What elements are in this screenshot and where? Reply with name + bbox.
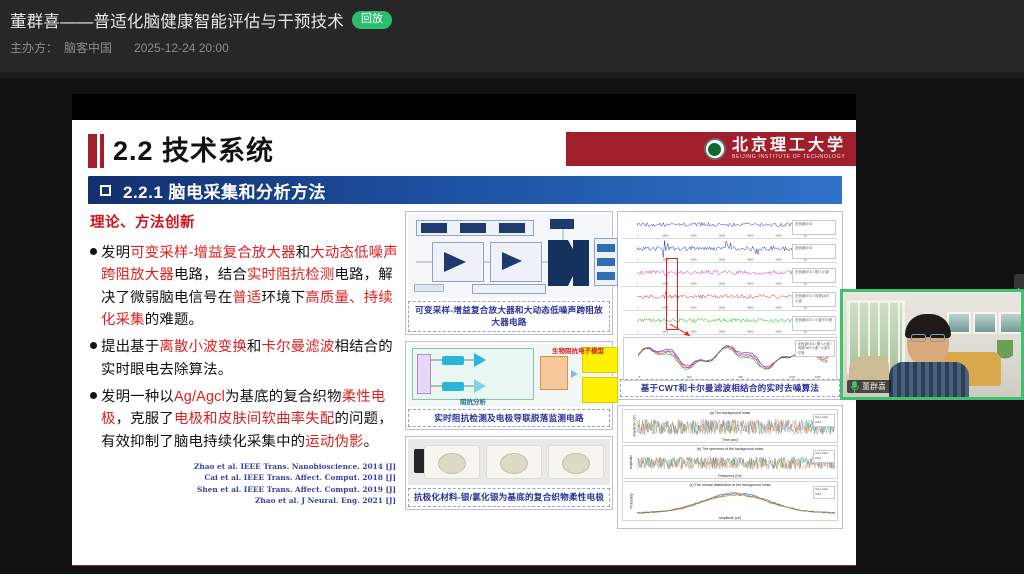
svg-text:800: 800	[687, 375, 692, 379]
impedance-circuit-figure: 生物阻抗电子模型 阻抗分析 实时阻抗检测及电极导联脱	[405, 341, 613, 430]
bullet-text-segment: 实时阻抗检测	[247, 267, 335, 283]
impedance-circuit-caption: 实时阻抗检测及电极导联脱落监测电路	[408, 409, 610, 427]
svg-text:4000: 4000	[747, 282, 754, 286]
reference-item: Zhao et al. J Neural. Eng. 2021 [J]	[90, 495, 396, 506]
bullet-text-segment: 为基底的复合织物	[225, 389, 342, 405]
subsection-title: 2.2.1 脑电采集和分析方法	[123, 178, 326, 203]
meta-row: 主办方： 脑客中国 2025-12-24 20:00	[10, 39, 1024, 56]
electrode-photo	[408, 439, 610, 485]
glasses-icon	[911, 334, 945, 342]
eeg-trace-row: 0100020003000400050006000含伪迹EEG	[623, 240, 837, 263]
bullet-item: 发明可变采样-增益复合放大器和大动态低噪声跨阻放大器电路，结合实时阻抗检测电路，…	[90, 242, 402, 331]
svg-text:5000: 5000	[776, 330, 783, 334]
noise-chart-svg	[637, 488, 835, 516]
noise-analysis-charts: (a) The background noiseAmplitude (uV)Ti…	[620, 408, 840, 526]
svg-text:0: 0	[637, 306, 638, 310]
svg-text:900: 900	[738, 375, 743, 379]
bullet-text-segment: 卡尔曼滤波	[262, 339, 335, 355]
eeg-trace-svg: 0100020003000400050006000	[637, 216, 807, 237]
bullet-text-segment: Ag/Agcl	[174, 389, 225, 405]
eeg-trace-svg: 0100020003000400050006000	[637, 264, 807, 285]
svg-text:2000: 2000	[691, 258, 698, 262]
bullet-text-segment: 电极和皮肤间软曲率失配	[174, 411, 335, 427]
noise-chart-title: (b) The spectrum of the background noise	[623, 447, 837, 451]
bullet-text-segment: 离散小波变换	[159, 339, 247, 355]
university-names: 北京理工大学 BEIJING INSTITUTE OF TECHNOLOGY	[732, 137, 846, 161]
noise-chart-xlabel: Frequency (Hz)	[623, 474, 837, 478]
accent-bar-thin	[100, 134, 104, 168]
noise-chart-title: (c) The normal distribution of the backg…	[623, 483, 837, 487]
square-bullet-icon	[100, 185, 111, 196]
svg-text:4000: 4000	[747, 234, 754, 238]
accent-bar-thick	[88, 134, 97, 168]
eeg-trace-row: 0100020003000400050006000无伪迹EEG / 配人小波	[623, 264, 837, 287]
bullet-item: 提出基于离散小波变换和卡尔曼滤波相结合的实时眼电去除算法。	[90, 336, 402, 381]
slide-section-header: 2.2 技术系统 北京理工大学 BEIJING INSTITUTE OF TEC…	[72, 128, 856, 174]
bullet-text-segment: 可变采样-增益复合放大器	[130, 245, 296, 261]
video-stage: 2.2 技术系统 北京理工大学 BEIJING INSTITUTE OF TEC…	[0, 78, 1024, 574]
eeg-detail-chart: 70080090010001050无伪迹EEG / 配人小波 / 传统DWT小波…	[623, 337, 837, 381]
svg-text:0: 0	[637, 258, 638, 262]
zoom-region-marker	[666, 258, 678, 330]
noise-chart-panel: (b) The spectrum of the background noise…	[622, 445, 838, 479]
noise-chart-ylabel: Amplitude (uV)	[633, 416, 637, 437]
noise-chart-legend: CH1 CH2 CH3	[813, 450, 835, 463]
svg-text:1000: 1000	[662, 234, 669, 238]
eeg-detail-legend: 无伪迹EEG / 配人小波 / 传统DWT小波 / 小波卡尔曼	[795, 340, 835, 357]
bullet-text-segment: 电路，结合	[174, 267, 247, 283]
amplifier-circuit-figure: 可变采样-增益复合放大器和大动态低噪声跨阻放大器电路	[405, 211, 613, 335]
page-title: 董群喜——普适化脑健康智能评估与干预技术	[10, 8, 344, 32]
slide-top-band	[72, 94, 856, 120]
svg-text:1000: 1000	[789, 375, 796, 379]
participant-name: 董群喜	[862, 381, 886, 392]
svg-text:4000: 4000	[747, 306, 754, 310]
noise-chart-panel: (c) The normal distribution of the backg…	[622, 481, 838, 521]
svg-text:0: 0	[637, 282, 638, 286]
svg-text:1050: 1050	[815, 375, 822, 379]
wall-art-2	[973, 312, 997, 334]
shared-slide: 2.2 技术系统 北京理工大学 BEIJING INSTITUTE OF TEC…	[72, 94, 856, 566]
flexible-electrode-figure: 抗极化材料-银/氯化银为基底的复合织物柔性电极	[405, 436, 613, 509]
bullet-dot-icon	[90, 392, 97, 399]
section-accent-bars	[88, 134, 104, 168]
host-name: 脑客中国	[64, 39, 112, 56]
svg-text:5000: 5000	[776, 234, 783, 238]
svg-text:3000: 3000	[719, 258, 726, 262]
svg-text:3000: 3000	[719, 234, 726, 238]
reference-item: Shen et al. IEEE Trans. Affect. Comput. …	[90, 484, 396, 495]
eeg-trace-row: 0100020003000400050006000无伪迹EEG / 传统DWT小…	[623, 288, 837, 311]
noise-chart-xlabel: Amplitude (uV)	[623, 516, 837, 520]
zoom-arrow-icon	[660, 324, 700, 338]
bullet-dot-icon	[90, 248, 97, 255]
denoise-algorithm-caption: 基于CWT和卡尔曼滤波相结合的实时去噪算法	[620, 379, 840, 397]
bullet-list: 发明可变采样-增益复合放大器和大动态低噪声跨阻放大器电路，结合实时阻抗检测电路，…	[90, 242, 402, 453]
title-row: 董群喜——普适化脑健康智能评估与干预技术 回放	[10, 8, 1024, 32]
theory-heading: 理论、方法创新	[90, 211, 402, 232]
eeg-trace-row: 0100020003000400050006000无伪迹EEG / 小波卡尔曼	[623, 312, 837, 335]
eeg-trace-legend: 无伪迹EEG / 小波卡尔曼	[792, 316, 836, 331]
amplifier-circuit-caption: 可变采样-增益复合放大器和大动态低噪声跨阻放大器电路	[408, 301, 610, 332]
participant-video-tile[interactable]: 董群喜	[840, 289, 1024, 400]
bullet-text-segment: ，克服了	[116, 411, 174, 427]
svg-text:5000: 5000	[776, 306, 783, 310]
impedance-block-diagram: 生物阻抗电子模型 阻抗分析	[408, 344, 610, 406]
noise-chart-ylabel: Amplitude	[629, 455, 633, 469]
bullet-text-segment: 运动伪影	[305, 434, 363, 450]
noise-chart-panel: (a) The background noiseAmplitude (uV)Ti…	[622, 409, 838, 443]
bullet-text-segment: 提出基于	[101, 339, 159, 355]
reference-item: Cai et al. IEEE Trans. Affect. Comput. 2…	[90, 472, 396, 483]
bullet-text-segment: 和	[296, 245, 311, 261]
denoise-algorithm-figure: 0100020003000400050006000无伪迹EEG010002000…	[617, 211, 843, 400]
svg-text:3000: 3000	[719, 306, 726, 310]
university-banner: 北京理工大学 BEIJING INSTITUTE OF TECHNOLOGY	[566, 132, 856, 166]
wall-art-3	[999, 312, 1023, 334]
flexible-electrode-caption: 抗极化材料-银/氯化银为基底的复合织物柔性电极	[408, 488, 610, 506]
participant-name-badge: 董群喜	[847, 380, 891, 393]
bullet-text: 发明可变采样-增益复合放大器和大动态低噪声跨阻放大器电路，结合实时阻抗检测电路，…	[101, 242, 402, 331]
bullet-text-segment: 。	[364, 434, 379, 450]
microphone-icon	[850, 381, 859, 392]
bullet-text-segment: 环境下	[262, 290, 306, 306]
university-name-cn: 北京理工大学	[732, 137, 846, 154]
svg-text:700: 700	[638, 375, 641, 379]
svg-text:3000: 3000	[719, 330, 726, 334]
svg-text:0: 0	[637, 330, 638, 334]
svg-text:2000: 2000	[691, 282, 698, 286]
figure-column-middle: 可变采样-增益复合放大器和大动态低噪声跨阻放大器电路	[402, 211, 617, 563]
status-badge-replay: 回放	[352, 11, 392, 28]
bullet-text: 提出基于离散小波变换和卡尔曼滤波相结合的实时眼电去除算法。	[101, 336, 402, 381]
bullet-dot-icon	[90, 342, 97, 349]
reference-item: Zhao et al. IEEE Trans. Nanobioscience. …	[90, 461, 396, 472]
bullet-text-segment: 和	[247, 339, 262, 355]
app-root: 董群喜——普适化脑健康智能评估与干预技术 回放 主办方： 脑客中国 2025-1…	[0, 0, 1024, 574]
bullet-text-segment: 发明一种以	[101, 389, 174, 405]
eeg-trace-legend: 无伪迹EEG / 传统DWT小波	[792, 292, 836, 307]
slide-body: 2.2 技术系统 北京理工大学 BEIJING INSTITUTE OF TEC…	[72, 128, 856, 566]
bullet-text: 发明一种以Ag/Agcl为基底的复合织物柔性电极，克服了电极和皮肤间软曲率失配的…	[101, 386, 402, 453]
eeg-trace-chart: 0100020003000400050006000无伪迹EEG010002000…	[620, 214, 840, 376]
eeg-trace-legend: 无伪迹EEG	[792, 220, 836, 235]
noise-chart-legend: CH1 CH2 CH3	[813, 414, 835, 427]
slide-footer-band	[72, 565, 856, 566]
slide-content: 理论、方法创新 发明可变采样-增益复合放大器和大动态低噪声跨阻放大器电路，结合实…	[72, 211, 856, 563]
amplifier-block-diagram	[408, 214, 610, 298]
university-logo-icon	[704, 138, 726, 160]
eeg-trace-legend: 无伪迹EEG / 配人小波	[792, 268, 836, 283]
bullet-text-segment: 发明	[101, 245, 130, 261]
eeg-trace-svg: 0100020003000400050006000	[637, 240, 807, 261]
section-title: 2.2 技术系统	[113, 138, 274, 165]
university-name-en: BEIJING INSTITUTE OF TECHNOLOGY	[732, 154, 845, 161]
speaker-torso	[889, 362, 969, 400]
svg-text:4000: 4000	[747, 258, 754, 262]
svg-text:5000: 5000	[776, 258, 783, 262]
eeg-trace-legend: 含伪迹EEG	[792, 244, 836, 259]
figure-column-right: 0100020003000400050006000无伪迹EEG010002000…	[617, 211, 849, 563]
text-column: 理论、方法创新 发明可变采样-增益复合放大器和大动态低噪声跨阻放大器电路，结合实…	[72, 211, 402, 563]
noise-chart-svg	[637, 452, 835, 474]
svg-text:0: 0	[637, 234, 638, 238]
host-label: 主办方：	[10, 39, 58, 56]
noise-chart-svg	[637, 416, 835, 438]
noise-chart-ylabel: Probability	[629, 494, 633, 509]
svg-text:3000: 3000	[719, 282, 726, 286]
noise-chart-title: (a) The background noise	[623, 411, 837, 415]
page-header: 董群喜——普适化脑健康智能评估与干预技术 回放 主办方： 脑客中国 2025-1…	[0, 0, 1024, 72]
noise-chart-legend: CH1 CH2 CH3	[813, 486, 835, 499]
svg-text:2000: 2000	[691, 306, 698, 310]
svg-text:5000: 5000	[776, 282, 783, 286]
noise-chart-xlabel: Time (sec)	[623, 438, 837, 442]
eeg-trace-svg: 0100020003000400050006000	[637, 288, 807, 309]
eeg-trace-row: 0100020003000400050006000无伪迹EEG	[623, 216, 837, 239]
noise-analysis-figure: (a) The background noiseAmplitude (uV)Ti…	[617, 405, 843, 529]
bullet-text-segment: 普适	[232, 290, 261, 306]
bullet-item: 发明一种以Ag/Agcl为基底的复合织物柔性电极，克服了电极和皮肤间软曲率失配的…	[90, 386, 402, 453]
reference-list: Zhao et al. IEEE Trans. Nanobioscience. …	[90, 461, 402, 507]
svg-text:4000: 4000	[747, 330, 754, 334]
slide-subsection-header: 2.2.1 脑电采集和分析方法	[88, 176, 842, 204]
session-datetime: 2025-12-24 20:00	[134, 41, 229, 55]
bullet-text-segment: 的难题。	[145, 312, 203, 328]
svg-text:2000: 2000	[691, 234, 698, 238]
